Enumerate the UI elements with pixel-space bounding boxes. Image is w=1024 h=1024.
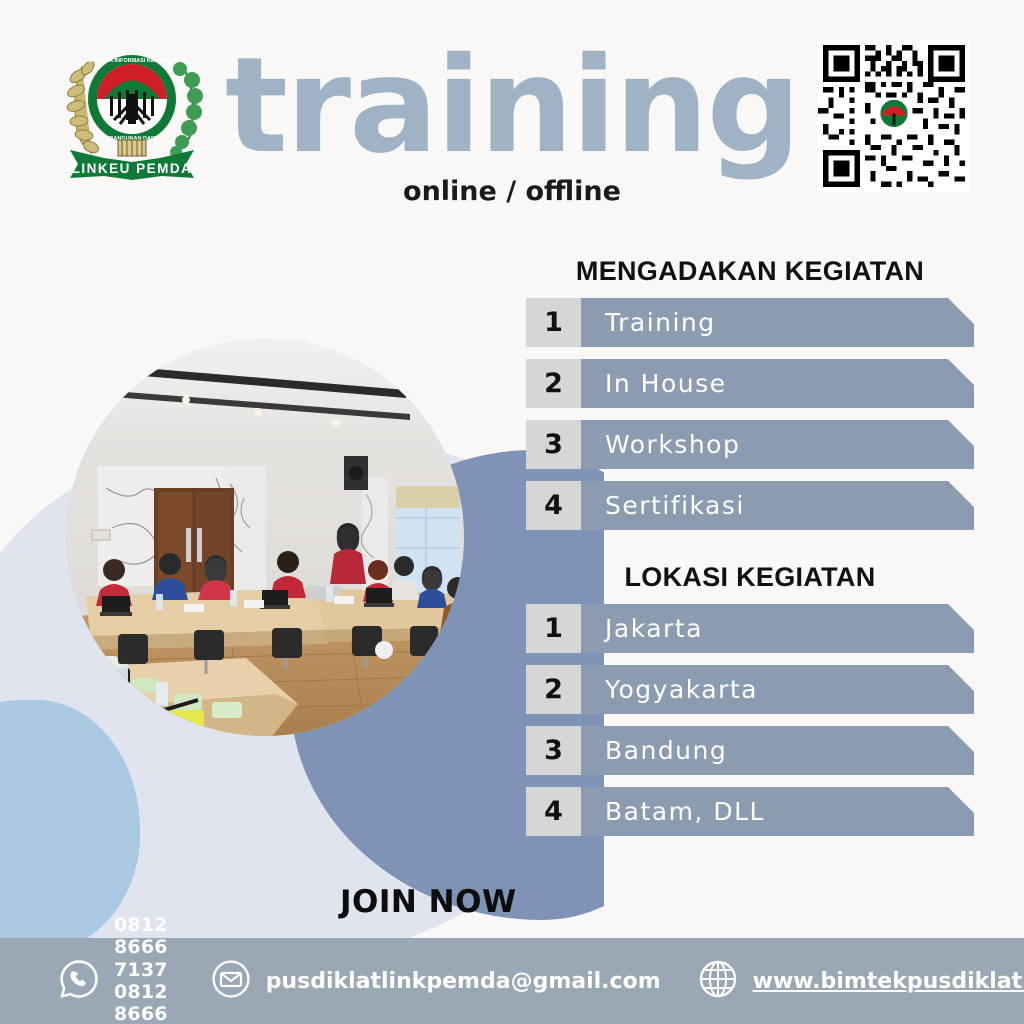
locations-section: LOKASI KEGIATAN 1 Jakarta 2 Yogyakarta 3… [526, 562, 974, 848]
section-heading-activities: MENGADAKAN KEGIATAN [526, 256, 974, 287]
list-item-bar: In House [581, 359, 974, 408]
linkeu-pemda-logo: LEMBAGA INFORMASI KEUANGAN PEMBANGUNAN D… [52, 36, 212, 186]
list-item-label: In House [605, 369, 727, 398]
footer-phone-lines: 0812 8666 7137 0812 8666 3857 [114, 914, 168, 1024]
section-heading-locations: LOKASI KEGIATAN [526, 562, 974, 593]
list-item-number: 4 [526, 481, 581, 530]
title-block: training online / offline [222, 40, 802, 207]
svg-text:LEMBAGA INFORMASI KEUANGAN: LEMBAGA INFORMASI KEUANGAN [85, 58, 178, 64]
join-now-cta[interactable]: JOIN NOW [340, 884, 517, 920]
envelope-icon [210, 958, 252, 1005]
activities-section: MENGADAKAN KEGIATAN 1 Training 2 In Hous… [526, 256, 974, 542]
list-item-bar: Jakarta [581, 604, 974, 653]
list-item-bar: Batam, DLL [581, 787, 974, 836]
list-item-label: Jakarta [605, 614, 703, 643]
list-item-label: Training [605, 308, 716, 337]
list-item[interactable]: 2 In House [526, 359, 974, 408]
qr-code-icon[interactable] [818, 40, 970, 192]
whatsapp-icon [58, 958, 100, 1005]
training-room-photo [66, 338, 464, 736]
list-item-number: 4 [526, 787, 581, 836]
list-item[interactable]: 1 Jakarta [526, 604, 974, 653]
list-item[interactable]: 4 Batam, DLL [526, 787, 974, 836]
list-item-label: Yogyakarta [605, 675, 758, 704]
list-item[interactable]: 3 Workshop [526, 420, 974, 469]
list-item-bar: Workshop [581, 420, 974, 469]
footer-email[interactable]: pusdiklatlinkpemda@gmail.com [210, 958, 661, 1005]
phone-line-1: 0812 8666 7137 [114, 914, 168, 981]
list-item-label: Batam, DLL [605, 797, 765, 826]
phone-line-2: 0812 8666 3857 [114, 981, 168, 1024]
contact-footer: 0812 8666 7137 0812 8666 3857 pusdiklatl… [0, 938, 1024, 1024]
list-item-number: 2 [526, 359, 581, 408]
page-title: training [222, 40, 802, 172]
footer-phone[interactable]: 0812 8666 7137 0812 8666 3857 [58, 914, 168, 1024]
list-item-number: 1 [526, 298, 581, 347]
list-item-bar: Bandung [581, 726, 974, 775]
footer-website-text: www.bimtekpusdiklat.com [753, 969, 1024, 994]
list-item-number: 1 [526, 604, 581, 653]
svg-text:LINKEU PEMDA: LINKEU PEMDA [72, 161, 193, 176]
list-item-label: Bandung [605, 736, 727, 765]
list-item[interactable]: 4 Sertifikasi [526, 481, 974, 530]
list-item[interactable]: 1 Training [526, 298, 974, 347]
footer-email-text: pusdiklatlinkpemda@gmail.com [266, 969, 661, 994]
list-item-number: 3 [526, 420, 581, 469]
list-item-bar: Yogyakarta [581, 665, 974, 714]
list-item-label: Sertifikasi [605, 491, 745, 520]
poster-canvas: LEMBAGA INFORMASI KEUANGAN PEMBANGUNAN D… [0, 0, 1024, 1024]
list-item[interactable]: 2 Yogyakarta [526, 665, 974, 714]
globe-icon [697, 958, 739, 1005]
list-item-number: 3 [526, 726, 581, 775]
footer-website[interactable]: www.bimtekpusdiklat.com [697, 958, 1024, 1005]
list-item-number: 2 [526, 665, 581, 714]
list-item-label: Workshop [605, 430, 740, 459]
list-item[interactable]: 3 Bandung [526, 726, 974, 775]
list-item-bar: Training [581, 298, 974, 347]
list-item-bar: Sertifikasi [581, 481, 974, 530]
